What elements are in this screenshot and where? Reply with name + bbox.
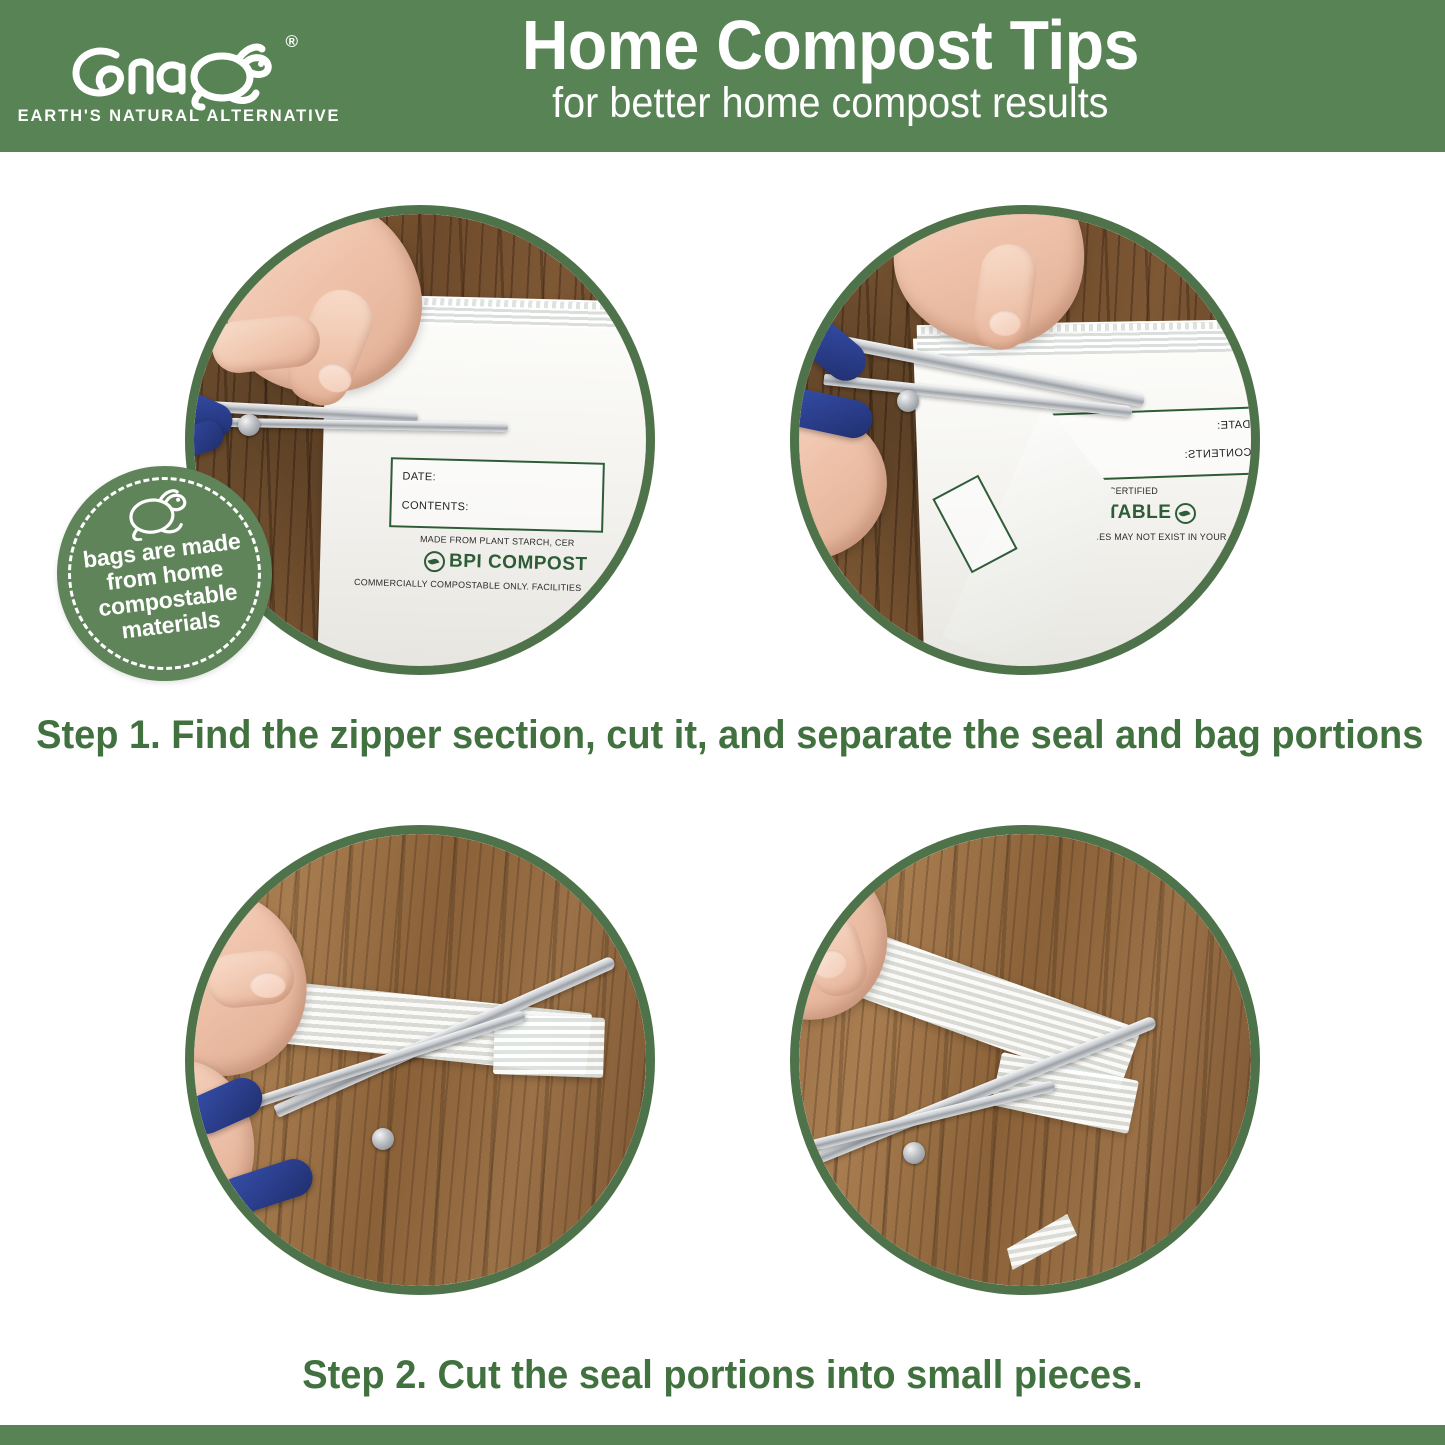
bag-date-label: DATE: <box>1217 419 1251 432</box>
step-2-caption: Step 2. Cut the seal portions into small… <box>36 1352 1409 1398</box>
bpi-label: BPI COMPOST <box>449 551 588 577</box>
brand-logo: ® EARTH'S NATURAL ALTERNATIVE <box>38 18 320 136</box>
bag-label-box: DATE: CONTENTS: <box>389 457 605 533</box>
fingernail <box>250 972 286 998</box>
scissors-pivot-screw <box>372 1128 394 1150</box>
bpi-seal-icon <box>424 550 446 572</box>
header-title-block: Home Compost Tips for better home compos… <box>330 6 1330 128</box>
footer-band <box>0 1425 1445 1445</box>
bag-bpi-compostable-text: BPI COMPOST <box>424 550 588 576</box>
scissors-pivot-screw <box>903 1142 925 1164</box>
scissors-pivot-screw <box>238 414 260 436</box>
photo-2-step1-separate-seal: DATE: CONTENTS: NT STARCH, CERTIFIED MPO… <box>790 205 1260 675</box>
bag-contents-label: CONTENTS: <box>1184 447 1251 461</box>
page-subtitle: for better home compost results <box>552 78 1108 128</box>
page-header: ® EARTH'S NATURAL ALTERNATIVE Home Compo… <box>0 0 1445 152</box>
registered-trademark-symbol: ® <box>285 33 298 50</box>
scissors-pivot-screw <box>897 390 919 412</box>
step-1-caption: Step 1. Find the zipper section, cut it,… <box>36 712 1409 758</box>
photo-3-step2-cut-strip <box>185 825 655 1295</box>
photo-4-step2-small-pieces <box>790 825 1260 1295</box>
logo-turtle-icon: ® <box>54 29 304 111</box>
bpi-seal-icon <box>1175 503 1196 524</box>
fingernail <box>989 310 1021 336</box>
bag-date-label: DATE: <box>402 471 436 484</box>
page-title: Home Compost Tips <box>521 6 1138 84</box>
bag-contents-label: CONTENTS: <box>402 500 469 514</box>
